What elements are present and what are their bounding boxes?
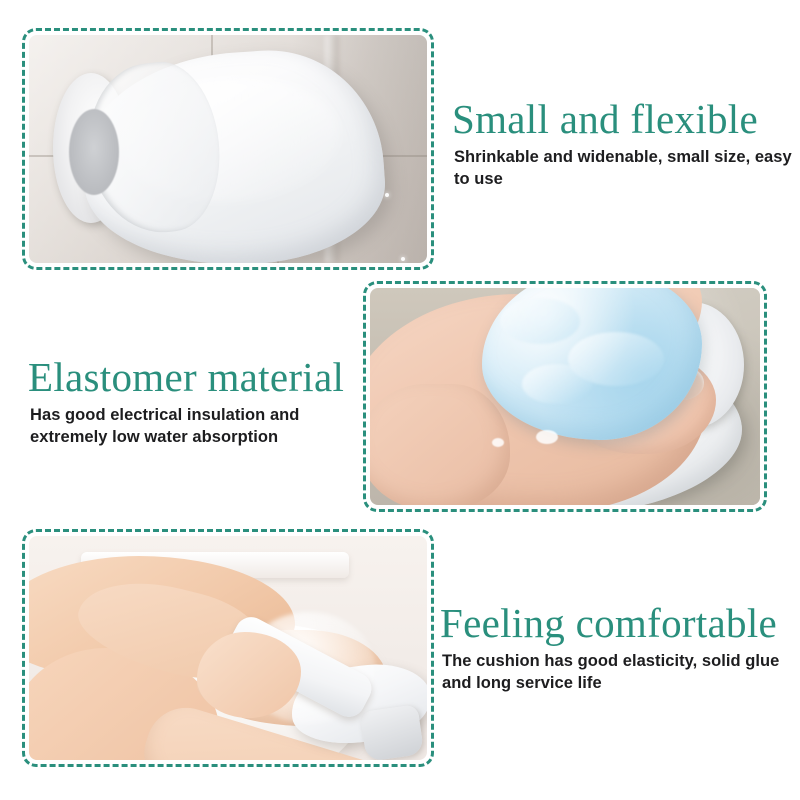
soap-suds [536, 430, 558, 444]
soap-suds [492, 438, 504, 447]
feature-text-elastomer-material: Elastomer material Has good electrical i… [28, 356, 378, 448]
feature-description: The cushion has good elasticity, solid g… [442, 651, 790, 693]
photo-shaving-leg-on-step [29, 536, 427, 760]
loofah-fold [500, 298, 580, 344]
feature-heading: Small and flexible [452, 98, 792, 141]
feature-photo-small-and-flexible [22, 28, 434, 270]
heel [370, 384, 510, 505]
feature-text-small-and-flexible: Small and flexible Shrinkable and widena… [452, 98, 792, 190]
feature-text-feeling-comfortable: Feeling comfortable The cushion has good… [440, 602, 790, 694]
feature-heading: Elastomer material [28, 356, 378, 399]
feature-heading: Feeling comfortable [440, 602, 790, 645]
water-sparkle [401, 257, 405, 261]
feature-photo-feeling-comfortable [22, 529, 434, 767]
water-sparkle [385, 193, 389, 197]
photo-wall-mounted-step [29, 35, 427, 263]
feature-photo-elastomer-material [363, 281, 767, 512]
infographic-page: Small and flexible Shrinkable and widena… [0, 0, 800, 800]
suction-cup [360, 704, 424, 760]
loofah-fold [522, 364, 592, 404]
feature-description: Shrinkable and widenable, small size, ea… [454, 147, 792, 189]
photo-foot-on-step-with-loofah [370, 288, 760, 505]
suction-cup-opening [69, 109, 119, 195]
feature-description: Has good electrical insulation and extre… [30, 405, 378, 447]
